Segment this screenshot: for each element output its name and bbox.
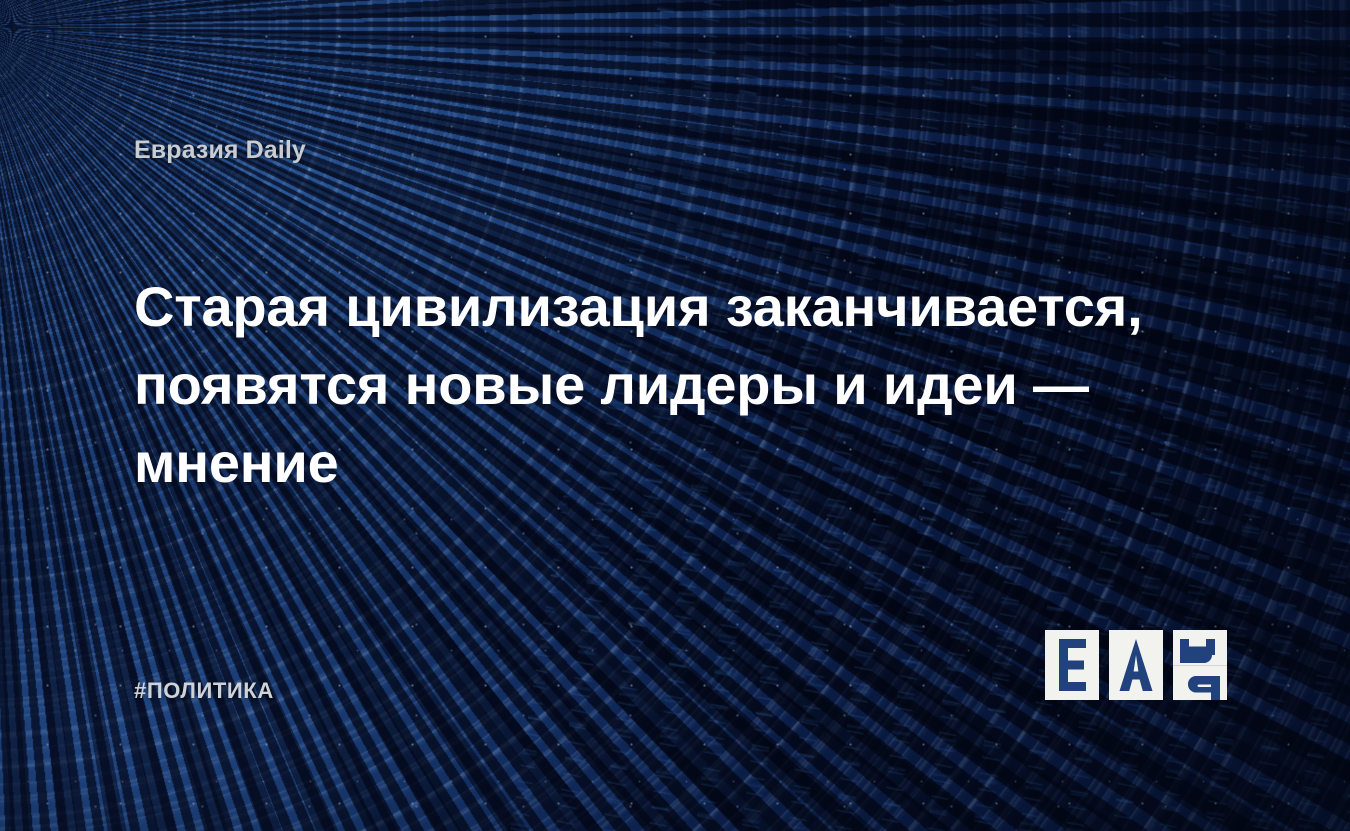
headline-line-2: появятся новые лидеры и идеи — (134, 353, 1089, 416)
card-content: Евразия Daily Старая цивилизация заканчи… (0, 0, 1350, 831)
logo-tile-a (1109, 630, 1163, 700)
publication-name: Евразия Daily (134, 136, 306, 165)
logo-tile-d (1173, 630, 1227, 700)
headline-line-3: мнение (134, 431, 339, 494)
headline-line-1: Старая цивилизация заканчивается, (134, 275, 1143, 338)
news-card: Евразия Daily Старая цивилизация заканчи… (0, 0, 1350, 831)
page-title: Старая цивилизация заканчивается,появятс… (134, 268, 1164, 502)
logo-tile-e (1045, 630, 1099, 700)
category-tag[interactable]: #ПОЛИТИКА (134, 678, 274, 704)
ead-logo[interactable] (1045, 630, 1227, 700)
